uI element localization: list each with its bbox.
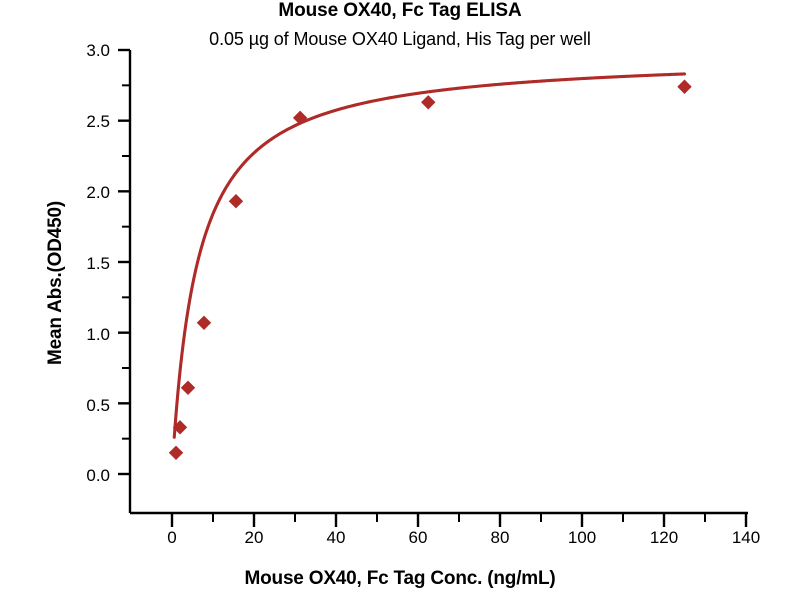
- data-point-diamond-marker: [169, 446, 183, 460]
- data-point-diamond-marker: [293, 111, 307, 125]
- data-point-diamond-marker: [421, 95, 435, 109]
- data-point-diamond-marker: [181, 381, 195, 395]
- data-point-diamond-marker: [229, 194, 243, 208]
- chart-figure: Mouse OX40, Fc Tag ELISA 0.05 µg of Mous…: [0, 0, 800, 600]
- data-point-diamond-marker: [677, 80, 691, 94]
- data-fit-curve: [174, 74, 684, 437]
- plot-area: [0, 0, 800, 600]
- y-axis-ticks: [118, 50, 130, 474]
- data-point-markers: [169, 80, 692, 460]
- data-point-diamond-marker: [197, 316, 211, 330]
- x-axis-ticks: [172, 513, 746, 527]
